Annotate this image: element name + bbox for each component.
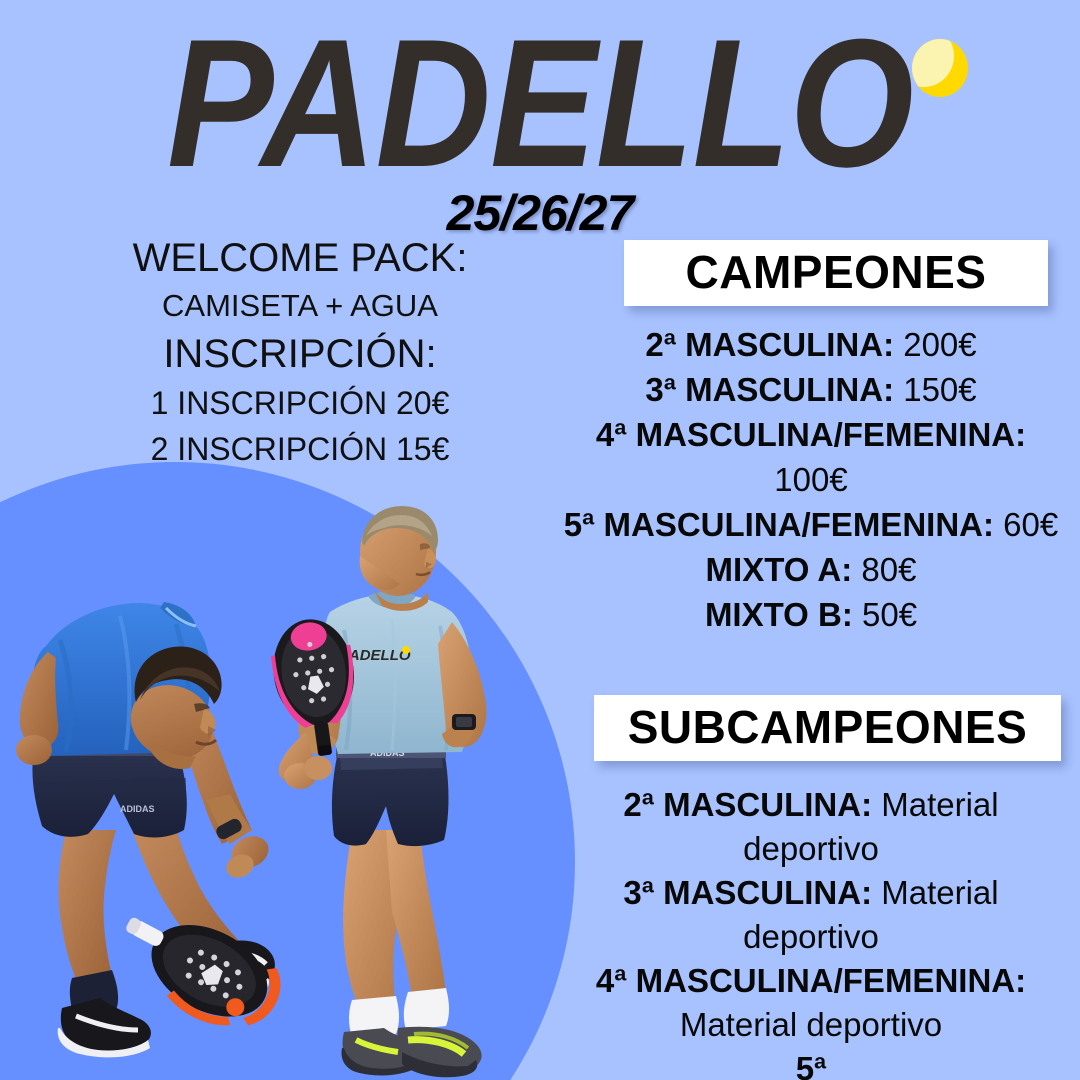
prize-row: 4ª MASCULINA/FEMENINA: 100€ bbox=[556, 412, 1066, 502]
prize-row: 5ª MASCULINA/FEMENINA:Material deportivo bbox=[556, 1047, 1066, 1080]
prize-row: 2ª MASCULINA: Material deportivo bbox=[556, 783, 1066, 871]
inscripcion-label: INSCRIPCIÓN: bbox=[20, 328, 580, 380]
prize-value: 200€ bbox=[894, 326, 977, 363]
prize-category: 2ª MASCULINA: bbox=[645, 326, 894, 363]
prize-row: 3ª MASCULINA: 150€ bbox=[556, 367, 1066, 412]
players-photo: ADIDAS PADELLO bbox=[0, 500, 560, 1080]
title-wrap: PADELLO bbox=[0, 8, 1080, 193]
prize-category: 5ª MASCULINA/FEMENINA: bbox=[564, 506, 994, 543]
tennis-ball-icon bbox=[912, 39, 968, 97]
prize-category: MIXTO B: bbox=[705, 596, 853, 633]
prize-value: 50€ bbox=[853, 596, 917, 633]
campeones-banner: CAMPEONES bbox=[624, 240, 1048, 306]
prize-row: MIXTO B: 50€ bbox=[556, 592, 1066, 637]
campeones-heading: CAMPEONES bbox=[624, 246, 1048, 298]
welcome-pack-label: WELCOME PACK: bbox=[20, 232, 580, 284]
prize-row: MIXTO A: 80€ bbox=[556, 547, 1066, 592]
subcampeones-list: 2ª MASCULINA: Material deportivo 3ª MASC… bbox=[556, 783, 1066, 1080]
prize-category: 3ª MASCULINA: bbox=[645, 371, 894, 408]
poster-canvas: ADIDAS PADELLO bbox=[0, 0, 1080, 1080]
prize-value: 60€ bbox=[994, 506, 1058, 543]
prize-row: 2ª MASCULINA: 200€ bbox=[556, 322, 1066, 367]
svg-text:ADIDAS: ADIDAS bbox=[120, 804, 155, 814]
prize-value: 80€ bbox=[852, 551, 916, 588]
prize-category: MIXTO A: bbox=[706, 551, 853, 588]
page-title: PADELLO bbox=[38, 8, 1042, 199]
prize-category: 4ª MASCULINA/FEMENINA: bbox=[596, 962, 1026, 999]
info-block: WELCOME PACK: CAMISETA + AGUA INSCRIPCIÓ… bbox=[20, 232, 580, 472]
player-right: ADIDAS PADELLO bbox=[266, 506, 486, 1077]
prize-value: Material deportivo bbox=[680, 1006, 942, 1043]
welcome-pack-value: CAMISETA + AGUA bbox=[20, 284, 580, 328]
prize-category: 3ª MASCULINA: bbox=[623, 874, 872, 911]
inscripcion-line-1: 1 INSCRIPCIÓN 20€ bbox=[20, 380, 580, 426]
subcampeones-heading: SUBCAMPEONES bbox=[594, 701, 1061, 753]
prize-row: 5ª MASCULINA/FEMENINA: 60€ bbox=[556, 502, 1066, 547]
player-left: ADIDAS bbox=[16, 602, 294, 1057]
tennis-ball-highlight bbox=[912, 39, 954, 87]
subcampeones-banner: SUBCAMPEONES bbox=[594, 695, 1061, 761]
campeones-section: CAMPEONES 2ª MASCULINA: 200€ 3ª MASCULIN… bbox=[556, 240, 1066, 637]
subcampeones-section: SUBCAMPEONES 2ª MASCULINA: Material depo… bbox=[556, 695, 1066, 1080]
prize-value: 150€ bbox=[894, 371, 977, 408]
prize-value: 100€ bbox=[774, 461, 847, 498]
prize-row: 4ª MASCULINA/FEMENINA: Material deportiv… bbox=[556, 959, 1066, 1047]
prize-category: 5ª MASCULINA/FEMENINA: bbox=[557, 1050, 947, 1080]
prize-category: 2ª MASCULINA: bbox=[623, 786, 872, 823]
prizes-column: CAMPEONES 2ª MASCULINA: 200€ 3ª MASCULIN… bbox=[556, 240, 1066, 1080]
inscripcion-line-2: 2 INSCRIPCIÓN 15€ bbox=[20, 426, 580, 472]
prize-category: 4ª MASCULINA/FEMENINA: bbox=[596, 416, 1026, 453]
campeones-list: 2ª MASCULINA: 200€ 3ª MASCULINA: 150€ 4ª… bbox=[556, 322, 1066, 637]
prize-row: 3ª MASCULINA: Material deportivo bbox=[556, 871, 1066, 959]
